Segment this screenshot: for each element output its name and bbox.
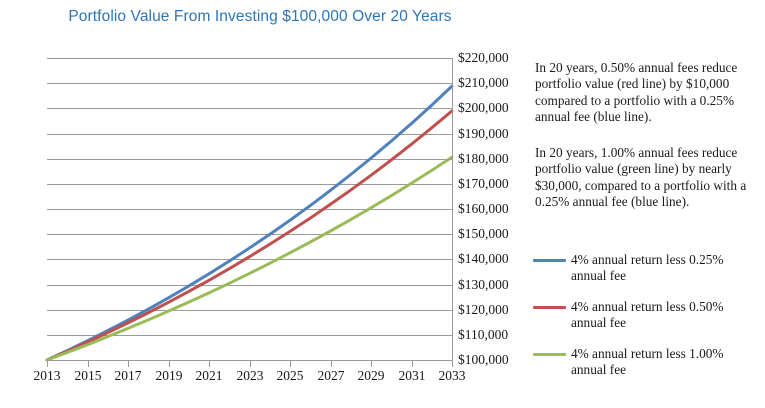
x-axis-tick [331, 361, 332, 367]
y-axis-tick [447, 108, 453, 109]
y-axis-label: $200,000 [458, 101, 509, 115]
x-axis-label: 2013 [34, 369, 61, 383]
x-axis-tick [452, 361, 453, 367]
y-axis-label: $160,000 [458, 202, 509, 216]
x-axis-label: 2025 [277, 369, 304, 383]
y-axis-tick [447, 134, 453, 135]
y-axis-label: $170,000 [458, 177, 509, 191]
y-axis-label: $150,000 [458, 227, 509, 241]
x-axis-label: 2021 [196, 369, 223, 383]
y-axis-tick [447, 58, 453, 59]
x-axis-label: 2015 [75, 369, 102, 383]
x-axis-tick [250, 361, 251, 367]
x-axis-tick [88, 361, 89, 367]
legend-item[interactable]: 4% annual return less 1.00% annual fee [533, 346, 761, 379]
y-axis-tick [447, 184, 453, 185]
series-lines [47, 58, 452, 360]
x-axis-tick [371, 361, 372, 367]
y-axis-tick [447, 335, 453, 336]
x-axis-tick [169, 361, 170, 367]
legend-swatch-icon [533, 353, 566, 356]
x-axis-label: 2017 [115, 369, 142, 383]
legend-item[interactable]: 4% annual return less 0.25% annual fee [533, 252, 761, 285]
y-axis-label: $110,000 [458, 328, 508, 342]
legend-item[interactable]: 4% annual return less 0.50% annual fee [533, 299, 761, 332]
y-axis-tick [447, 310, 453, 311]
legend-swatch-icon [533, 259, 566, 262]
y-axis-label: $140,000 [458, 252, 509, 266]
annotation-red-line: In 20 years, 0.50% annual fees reduce po… [535, 60, 759, 126]
y-axis-label: $130,000 [458, 278, 509, 292]
plot-area [47, 58, 452, 360]
y-axis-label: $210,000 [458, 76, 509, 90]
y-axis-label: $100,000 [458, 353, 509, 367]
x-axis-label: 2033 [439, 369, 466, 383]
y-axis-tick [447, 259, 453, 260]
x-axis-tick [209, 361, 210, 367]
y-axis-tick [447, 159, 453, 160]
series-line-1 [47, 86, 452, 360]
x-axis-label: 2027 [318, 369, 345, 383]
series-line-2 [47, 111, 452, 360]
x-axis-tick [128, 361, 129, 367]
chart-legend: 4% annual return less 0.25% annual fee4%… [533, 252, 761, 392]
y-axis-label: $120,000 [458, 303, 509, 317]
x-axis-label: 2019 [156, 369, 183, 383]
x-axis-tick [412, 361, 413, 367]
legend-item-label: 4% annual return less 0.25% annual fee [571, 252, 724, 283]
x-axis-tick [290, 361, 291, 367]
chart-title: Portfolio Value From Investing $100,000 … [0, 8, 520, 26]
y-axis-label: $180,000 [458, 152, 509, 166]
y-axis-label: $220,000 [458, 51, 509, 65]
y-axis-label: $190,000 [458, 127, 509, 141]
legend-item-label: 4% annual return less 1.00% annual fee [571, 346, 724, 377]
y-axis-tick [447, 83, 453, 84]
x-axis-tick [47, 361, 48, 367]
legend-swatch-icon [533, 306, 566, 309]
x-axis-label: 2023 [237, 369, 264, 383]
x-axis-label: 2031 [399, 369, 426, 383]
y-axis-tick [447, 209, 453, 210]
y-axis-tick [447, 234, 453, 235]
legend-item-label: 4% annual return less 0.50% annual fee [571, 299, 724, 330]
x-axis-label: 2029 [358, 369, 385, 383]
y-axis-tick [447, 285, 453, 286]
chart-page: Portfolio Value From Investing $100,000 … [0, 0, 765, 408]
annotation-green-line: In 20 years, 1.00% annual fees reduce po… [535, 145, 759, 211]
